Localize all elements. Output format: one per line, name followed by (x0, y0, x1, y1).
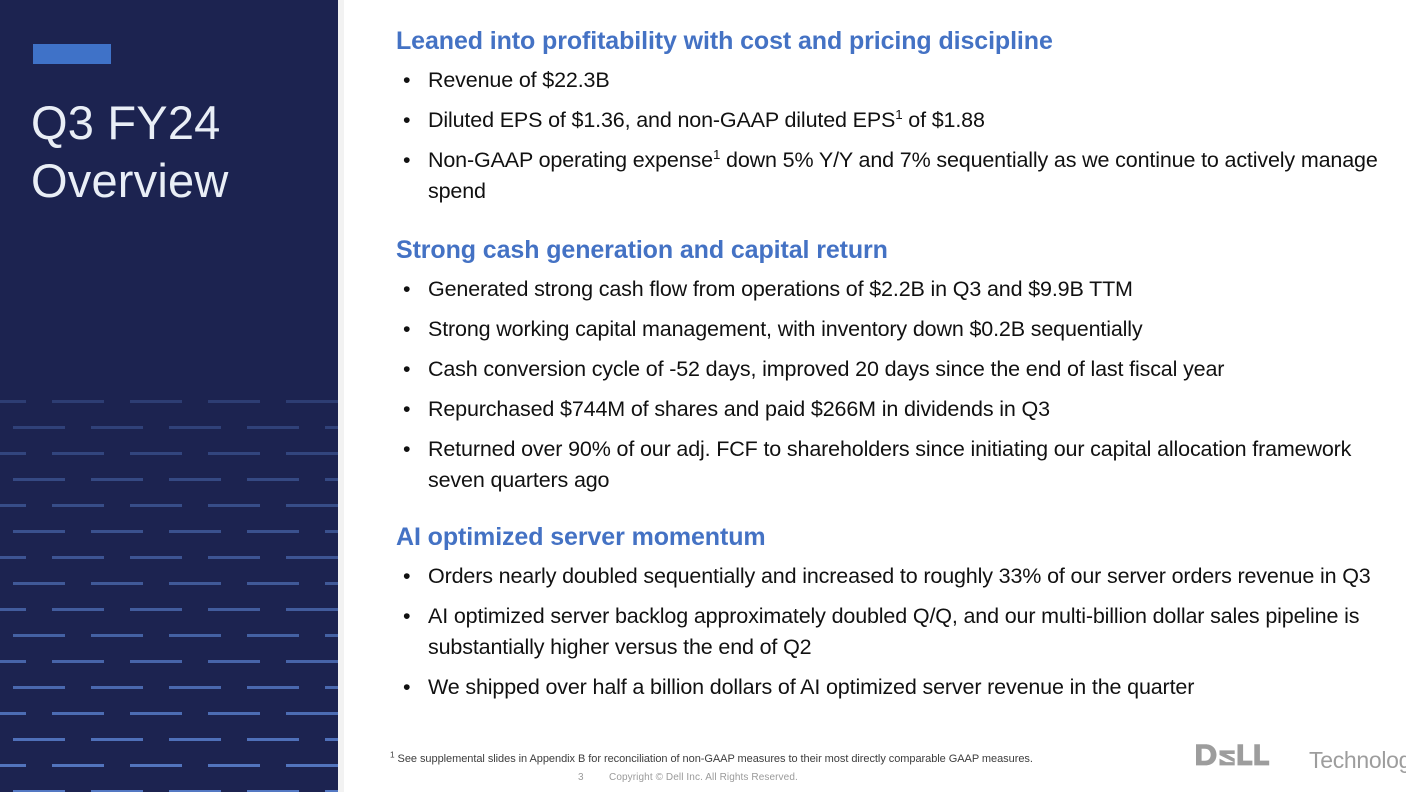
dash (208, 400, 260, 403)
dash-row (0, 530, 338, 533)
bullet-list: •Generated strong cash flow from operati… (396, 274, 1390, 496)
list-item: •Orders nearly doubled sequentially and … (396, 561, 1390, 592)
dash (52, 764, 104, 767)
bullet-dot: • (403, 105, 410, 136)
dash (130, 556, 182, 559)
dash (52, 556, 104, 559)
dash (247, 738, 299, 741)
copyright-text: Copyright © Dell Inc. All Rights Reserve… (609, 772, 798, 783)
dash (91, 634, 143, 637)
dash (91, 738, 143, 741)
dash (130, 400, 182, 403)
bullet-dot: • (403, 394, 410, 425)
dash (169, 530, 221, 533)
dash (0, 608, 26, 611)
dash (130, 660, 182, 663)
bullet-text: Repurchased $744M of shares and paid $26… (428, 397, 1050, 421)
dash-row (0, 660, 338, 663)
dash (91, 686, 143, 689)
dash (91, 478, 143, 481)
dash (208, 712, 260, 715)
dash (286, 712, 338, 715)
list-item: •We shipped over half a billion dollars … (396, 672, 1390, 703)
dash (208, 764, 260, 767)
dash (325, 426, 338, 429)
dash (13, 582, 65, 585)
bullet-text: Strong working capital management, with … (428, 317, 1143, 341)
dash (52, 400, 104, 403)
dash (52, 660, 104, 663)
content-area: Leaned into profitability with cost and … (396, 0, 1390, 792)
list-item: •Cash conversion cycle of -52 days, impr… (396, 354, 1390, 385)
dash (130, 452, 182, 455)
dash-row (0, 556, 338, 559)
title-panel: Q3 FY24 Overview (0, 0, 338, 792)
dash (247, 634, 299, 637)
dash (247, 686, 299, 689)
dash-row (0, 452, 338, 455)
dash (247, 582, 299, 585)
panel-edge-divider (338, 0, 344, 792)
bullet-dot: • (403, 65, 410, 96)
logo-technologies-text: Technologies (1309, 747, 1406, 774)
dash (208, 504, 260, 507)
bullet-dot: • (403, 561, 410, 592)
section-heading: Leaned into profitability with cost and … (396, 26, 1390, 56)
dash (286, 400, 338, 403)
dash (0, 712, 26, 715)
dash (52, 712, 104, 715)
list-item: •Generated strong cash flow from operati… (396, 274, 1390, 305)
dash (13, 426, 65, 429)
decorative-dash-pattern (0, 400, 338, 792)
dash-row (0, 634, 338, 637)
dash (130, 764, 182, 767)
bullet-text: AI optimized server backlog approximatel… (428, 604, 1359, 659)
footnote: 1 See supplemental slides in Appendix B … (390, 752, 1033, 767)
bullet-text: Orders nearly doubled sequentially and i… (428, 564, 1371, 588)
slide: Q3 FY24 Overview Leaned into profitabili… (0, 0, 1406, 792)
dash (169, 686, 221, 689)
dash (130, 608, 182, 611)
dash (91, 530, 143, 533)
dash (247, 530, 299, 533)
dash-row (0, 686, 338, 689)
dash (247, 426, 299, 429)
list-item: •Diluted EPS of $1.36, and non-GAAP dilu… (396, 105, 1390, 136)
dash (13, 686, 65, 689)
bullet-list: •Orders nearly doubled sequentially and … (396, 561, 1390, 703)
bullet-text: Revenue of $22.3B (428, 68, 610, 92)
dash (52, 608, 104, 611)
dash-row (0, 400, 338, 403)
dell-wordmark-icon (1196, 742, 1308, 768)
dash (286, 452, 338, 455)
dash (325, 634, 338, 637)
bullet-dot: • (403, 274, 410, 305)
bullet-text: Generated strong cash flow from operatio… (428, 277, 1133, 301)
section-heading: Strong cash generation and capital retur… (396, 235, 1390, 265)
dash-row (0, 608, 338, 611)
footnote-text: See supplemental slides in Appendix B fo… (395, 753, 1033, 765)
bullet-text: We shipped over half a billion dollars o… (428, 675, 1194, 699)
list-item: •AI optimized server backlog approximate… (396, 601, 1390, 663)
dash (0, 660, 26, 663)
dash (13, 634, 65, 637)
dash (208, 452, 260, 455)
dash (208, 556, 260, 559)
dash (325, 530, 338, 533)
dash (286, 608, 338, 611)
dash-row (0, 504, 338, 507)
bullet-dot: • (403, 354, 410, 385)
dash (208, 608, 260, 611)
dash (169, 634, 221, 637)
dash (208, 660, 260, 663)
bullet-text: Returned over 90% of our adj. FCF to sha… (428, 437, 1351, 492)
dash-row (0, 582, 338, 585)
dash (286, 556, 338, 559)
dash (325, 738, 338, 741)
bullet-text: Cash conversion cycle of -52 days, impro… (428, 357, 1224, 381)
dash (91, 426, 143, 429)
dash (169, 426, 221, 429)
bullet-dot: • (403, 672, 410, 703)
dash (286, 764, 338, 767)
bullet-dot: • (403, 145, 410, 176)
bullet-dot: • (403, 434, 410, 465)
dash (286, 660, 338, 663)
dash (247, 478, 299, 481)
dash (52, 504, 104, 507)
dash (0, 504, 26, 507)
dash (130, 504, 182, 507)
accent-bar (33, 44, 111, 64)
bullet-text: Diluted EPS of $1.36, and non-GAAP dilut… (428, 108, 985, 132)
dash (169, 478, 221, 481)
dash-row (0, 478, 338, 481)
dash (169, 582, 221, 585)
dash-row (0, 426, 338, 429)
dash (325, 582, 338, 585)
dash (325, 478, 338, 481)
dash (13, 738, 65, 741)
dash (0, 400, 26, 403)
list-item: •Repurchased $744M of shares and paid $2… (396, 394, 1390, 425)
dash (0, 556, 26, 559)
page-number: 3 (578, 772, 584, 783)
dash (13, 530, 65, 533)
bullet-dot: • (403, 601, 410, 632)
dell-technologies-logo: Technologies (1196, 742, 1406, 768)
dash (91, 582, 143, 585)
section-ai-server-momentum: AI optimized server momentum •Orders nea… (396, 522, 1390, 703)
section-cash-generation: Strong cash generation and capital retur… (396, 235, 1390, 496)
page-title: Q3 FY24 Overview (31, 94, 321, 210)
section-profitability: Leaned into profitability with cost and … (396, 26, 1390, 207)
list-item: •Non-GAAP operating expense1 down 5% Y/Y… (396, 145, 1390, 207)
section-heading: AI optimized server momentum (396, 522, 1390, 552)
bullet-text: Non-GAAP operating expense1 down 5% Y/Y … (428, 148, 1378, 203)
dash-row (0, 764, 338, 767)
dash (130, 712, 182, 715)
list-item: •Strong working capital management, with… (396, 314, 1390, 345)
dash (325, 686, 338, 689)
bullet-list: •Revenue of $22.3B •Diluted EPS of $1.36… (396, 65, 1390, 207)
dash (169, 738, 221, 741)
dash (13, 478, 65, 481)
dash (0, 452, 26, 455)
list-item: •Revenue of $22.3B (396, 65, 1390, 96)
dash-row (0, 712, 338, 715)
dash-row (0, 738, 338, 741)
dash (0, 764, 26, 767)
bullet-dot: • (403, 314, 410, 345)
dash (52, 452, 104, 455)
list-item: •Returned over 90% of our adj. FCF to sh… (396, 434, 1390, 496)
dash (286, 504, 338, 507)
